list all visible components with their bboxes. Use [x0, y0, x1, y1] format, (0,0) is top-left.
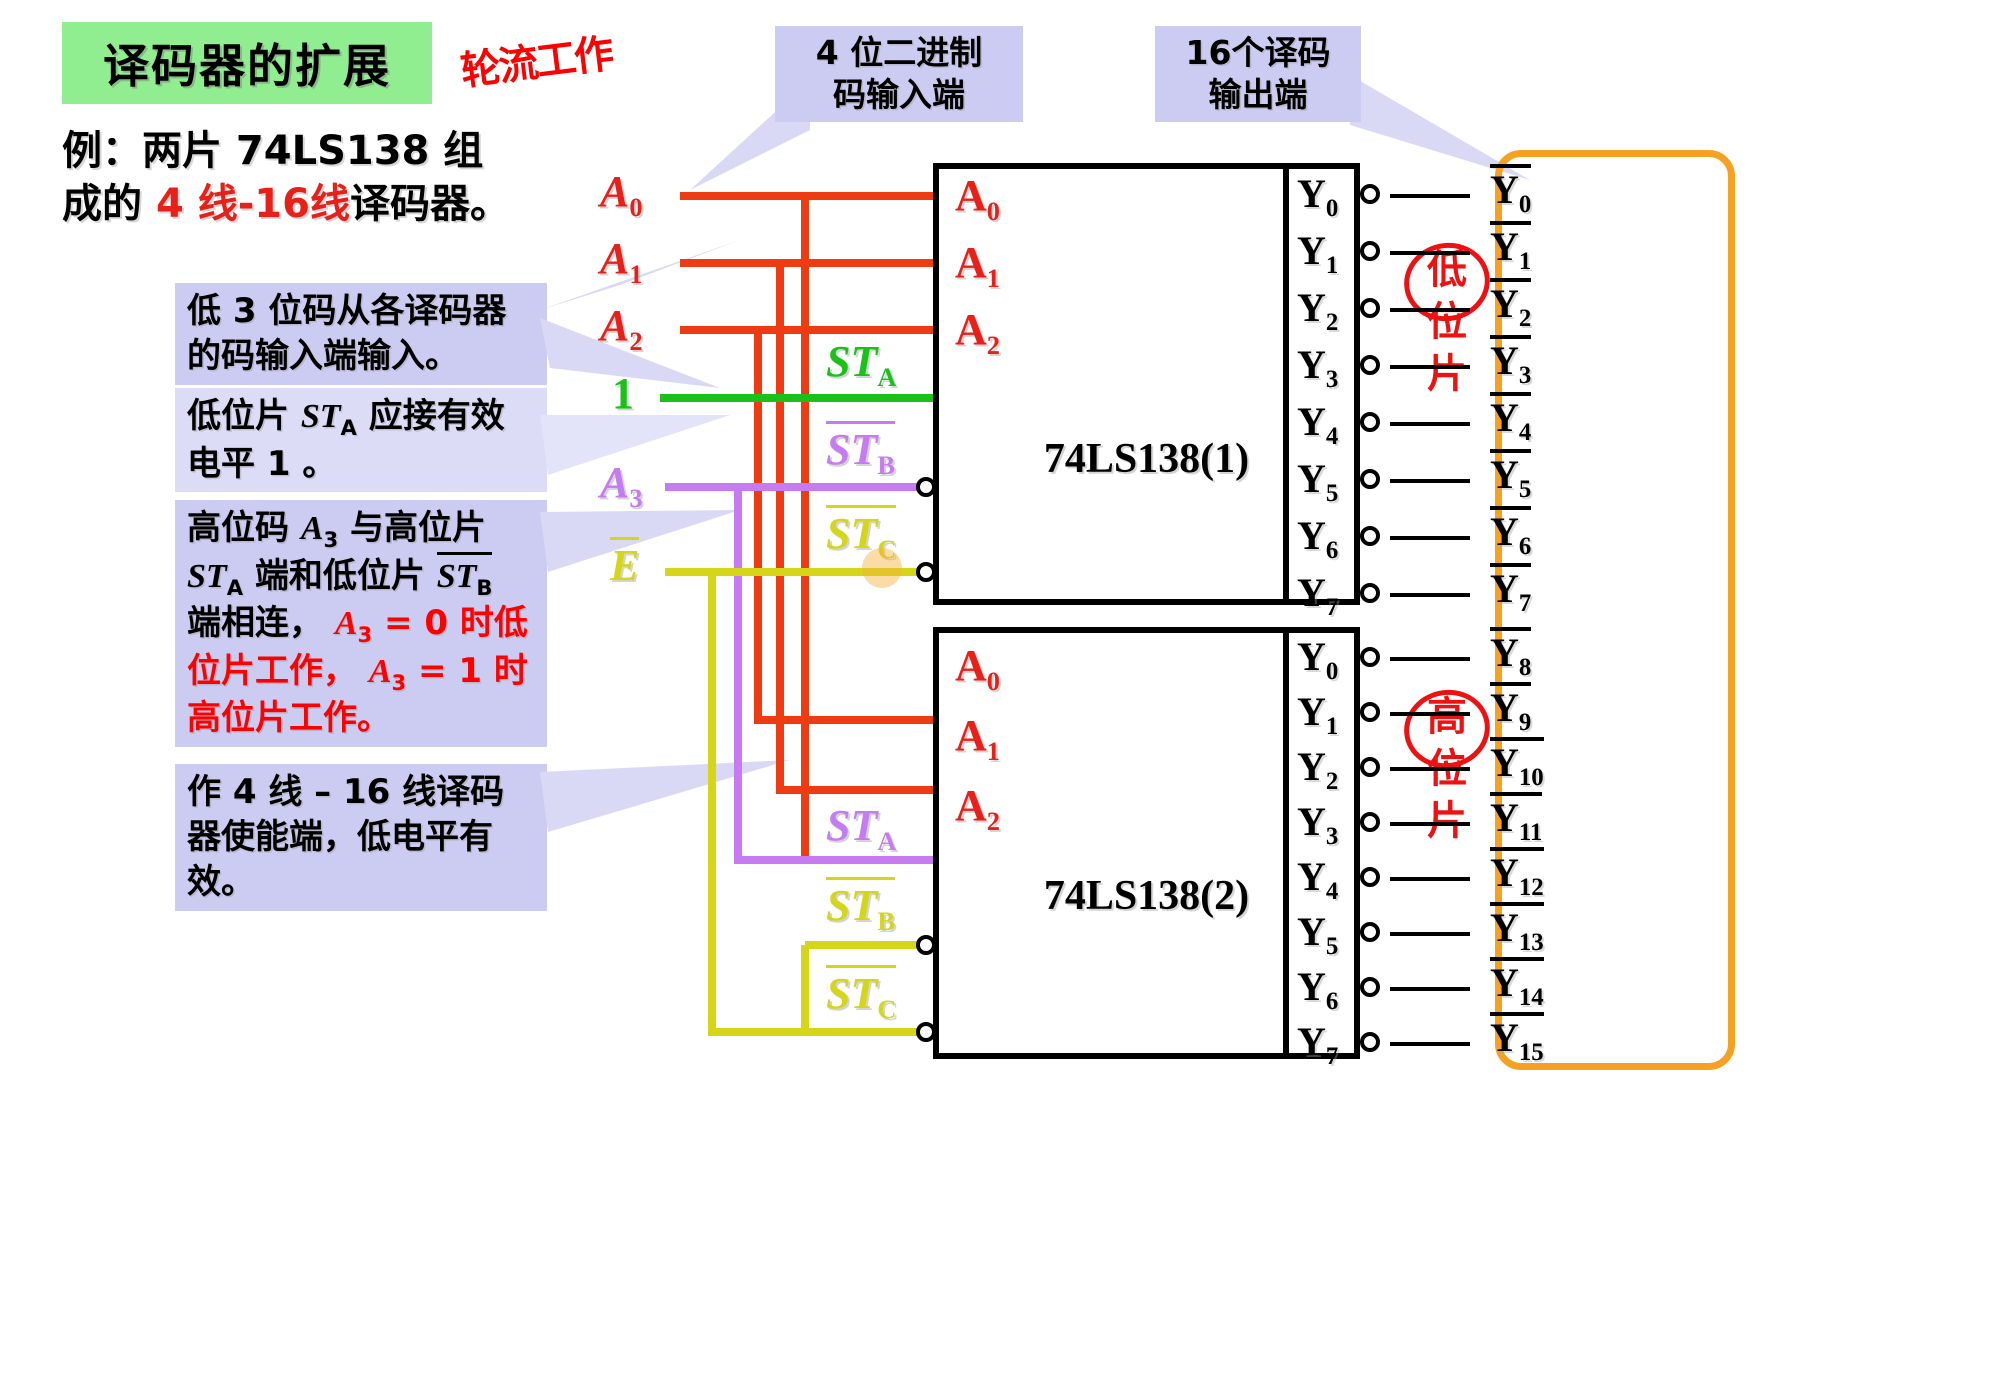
- chip2-output-label-y0: Y0: [1297, 633, 1338, 686]
- chip1-output-bubble-y1: [1360, 241, 1380, 261]
- chip1-output-barlabel-y4: Y4: [1490, 394, 1531, 447]
- chip1-pin-a1: A1: [955, 237, 1000, 294]
- chip2-pin-sta: STA: [826, 800, 896, 857]
- chip2-pin-stc: STC: [826, 968, 896, 1025]
- chip1-output-barlabel-y7: Y7: [1490, 565, 1531, 618]
- chip1-handwriting-pian: 片: [1412, 354, 1482, 394]
- chip1-output-stub-y7: [1390, 593, 1470, 597]
- chip2-handwriting-high: 高: [1412, 697, 1482, 737]
- chip2-output-stub-y5: [1390, 932, 1470, 936]
- chip1-output-bubble-y6: [1360, 526, 1380, 546]
- chip1-output-barlabel-y6: Y6: [1490, 508, 1531, 561]
- chip2-output-stub-y7: [1390, 1042, 1470, 1046]
- input-label-a3: A3: [600, 457, 643, 514]
- chip1-output-label-y1: Y1: [1297, 227, 1338, 280]
- chip1-handwriting-low: 低: [1412, 250, 1482, 290]
- chip1-output-label-y4: Y4: [1297, 398, 1338, 451]
- chip1-output-bubble-y3: [1360, 355, 1380, 375]
- chip1-output-bubble-y0: [1360, 184, 1380, 204]
- chip2-output-stub-y1: [1390, 712, 1470, 716]
- chip2-output-stub-y3: [1390, 822, 1470, 826]
- chip2-output-bubble-y7: [1360, 1032, 1380, 1052]
- chip2-output-bubble-y2: [1360, 757, 1380, 777]
- input-label-a2: A2: [600, 300, 643, 357]
- chip1-output-stub-y4: [1390, 422, 1470, 426]
- chip2-pin-a2: A2: [955, 780, 1000, 837]
- chip2-output-bubble-y5: [1360, 922, 1380, 942]
- chip1-output-bubble-y7: [1360, 583, 1380, 603]
- chip1-output-barlabel-y0: Y0: [1490, 166, 1531, 219]
- chip2-stc-bubble: [916, 1022, 936, 1042]
- input-label-a1: A1: [600, 233, 643, 290]
- chip2-output-label-y4: Y4: [1297, 853, 1338, 906]
- chip1-output-barlabel-y3: Y3: [1490, 337, 1531, 390]
- chip2-output-barlabel-y12: Y12: [1490, 849, 1544, 902]
- input-label-a0: A0: [600, 166, 643, 223]
- chip2-output-barlabel-y15: Y15: [1490, 1014, 1544, 1067]
- chip2-output-barlabel-y14: Y14: [1490, 959, 1544, 1012]
- chip2-output-barlabel-y8: Y8: [1490, 629, 1531, 682]
- chip2-output-bubble-y0: [1360, 647, 1380, 667]
- chip1-pin-a0: A0: [955, 170, 1000, 227]
- chip2-output-bubble-y3: [1360, 812, 1380, 832]
- chip1-pin-a2: A2: [955, 304, 1000, 361]
- chip2-output-stub-y4: [1390, 877, 1470, 881]
- chip2-output-barlabel-y9: Y9: [1490, 684, 1531, 737]
- chip1-output-stub-y1: [1390, 251, 1470, 255]
- chip1-output-label-y0: Y0: [1297, 170, 1338, 223]
- chip2-handwriting-pian: 片: [1412, 801, 1482, 841]
- chip2-output-barlabel-y13: Y13: [1490, 904, 1544, 957]
- chip1-output-barlabel-y1: Y1: [1490, 223, 1531, 276]
- chip2-output-label-y5: Y5: [1297, 908, 1338, 961]
- chip2-output-barlabel-y11: Y11: [1490, 794, 1542, 847]
- highlight-blob: [862, 548, 902, 588]
- chip1-output-label-y6: Y6: [1297, 512, 1338, 565]
- chip1-output-label-y5: Y5: [1297, 455, 1338, 508]
- chip2-pin-a0: A0: [955, 640, 1000, 697]
- chip1-output-barlabel-y2: Y2: [1490, 280, 1531, 333]
- chip2-output-stub-y2: [1390, 767, 1470, 771]
- chip1-pin-stb: STB: [826, 424, 895, 481]
- chip1-output-bubble-y4: [1360, 412, 1380, 432]
- chip1-output-bubble-y5: [1360, 469, 1380, 489]
- slide-canvas: 译码器的扩展 轮流工作 例：两片 74LS138 组 成的 4 线-16线译码器…: [0, 0, 2002, 1395]
- chip2-output-stub-y6: [1390, 987, 1470, 991]
- chip1-output-label-y7: Y7: [1297, 569, 1338, 622]
- chip2-output-label-y6: Y6: [1297, 963, 1338, 1016]
- chip1-output-stub-y5: [1390, 479, 1470, 483]
- chip2-output-label-y7: Y7: [1297, 1018, 1338, 1071]
- chip2-stb-bubble: [916, 935, 936, 955]
- chip2-output-bubble-y4: [1360, 867, 1380, 887]
- chip2-output-label-y3: Y3: [1297, 798, 1338, 851]
- chip1-output-label-y2: Y2: [1297, 284, 1338, 337]
- chip1-output-stub-y2: [1390, 308, 1470, 312]
- chip2-pin-a1: A1: [955, 710, 1000, 767]
- chip2-output-barlabel-y10: Y10: [1490, 739, 1544, 792]
- chip1-output-bubble-y2: [1360, 298, 1380, 318]
- chip1-pin-sta: STA: [826, 336, 896, 393]
- chip2-output-bubble-y6: [1360, 977, 1380, 997]
- chip1-output-barlabel-y5: Y5: [1490, 451, 1531, 504]
- chip2-pin-stb: STB: [826, 880, 895, 937]
- chip1-stc-bubble: [916, 562, 936, 582]
- chip1-output-stub-y6: [1390, 536, 1470, 540]
- chip2-output-stub-y0: [1390, 657, 1470, 661]
- chip1-output-stub-y3: [1390, 365, 1470, 369]
- input-label-e-bar: E: [610, 540, 639, 591]
- chip1-output-stub-y0: [1390, 194, 1470, 198]
- chip1-output-label-y3: Y3: [1297, 341, 1338, 394]
- input-label-logic-one: 1: [612, 368, 634, 419]
- chip2-output-label-y2: Y2: [1297, 743, 1338, 796]
- chip2-output-label-y1: Y1: [1297, 688, 1338, 741]
- chip2-output-bubble-y1: [1360, 702, 1380, 722]
